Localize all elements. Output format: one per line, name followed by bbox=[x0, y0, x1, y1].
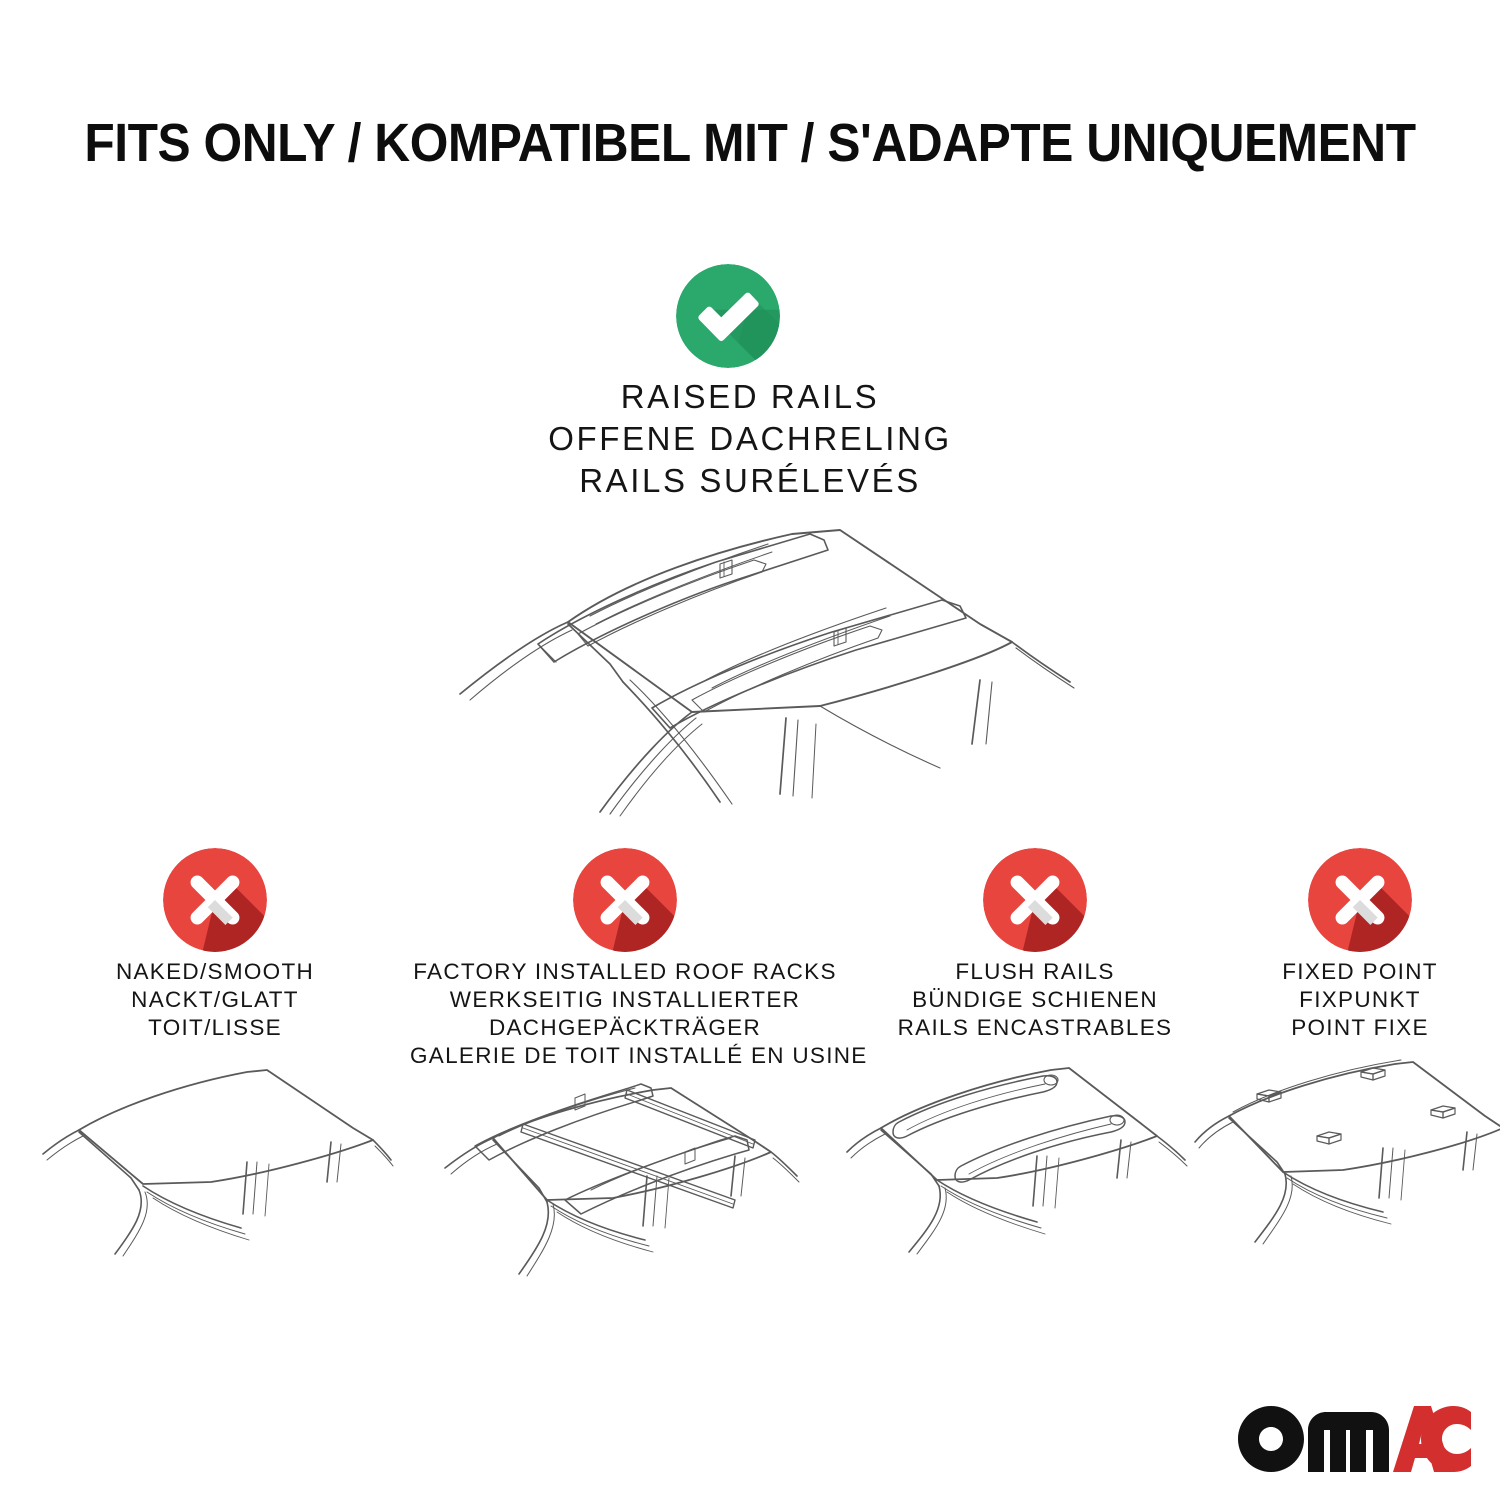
option-label-fr: GALERIE DE TOIT INSTALLÉ EN USINE bbox=[410, 1042, 840, 1070]
x-circle-icon bbox=[573, 848, 677, 952]
option-label-fr: TOIT/LISSE bbox=[55, 1014, 375, 1042]
option-label-en: FLUSH RAILS bbox=[865, 958, 1205, 986]
option-label-en: FIXED POINT bbox=[1215, 958, 1500, 986]
check-circle-icon bbox=[676, 264, 780, 368]
option-labels: NAKED/SMOOTH NACKT/GLATT TOIT/LISSE bbox=[55, 958, 375, 1042]
option-labels: FLUSH RAILS BÜNDIGE SCHIENEN RAILS ENCAS… bbox=[865, 958, 1205, 1042]
car-roof-fixed-point-illustration bbox=[1185, 1050, 1500, 1300]
car-roof-factory-roof-racks-illustration bbox=[435, 1078, 815, 1328]
option-label-de-1: WERKSEITIG INSTALLIERTER bbox=[410, 986, 840, 1014]
option-label-de-2: DACHGEPÄCKTRÄGER bbox=[410, 1014, 840, 1042]
option-label-de: BÜNDIGE SCHIENEN bbox=[865, 986, 1205, 1014]
x-circle-icon bbox=[163, 848, 267, 952]
option-label-fr: RAILS ENCASTRABLES bbox=[865, 1014, 1205, 1042]
car-roof-naked-smooth-illustration bbox=[35, 1050, 395, 1300]
approved-label-en: RAISED RAILS bbox=[250, 376, 1250, 418]
option-labels: FACTORY INSTALLED ROOF RACKS WERKSEITIG … bbox=[410, 958, 840, 1070]
option-label-en: NAKED/SMOOTH bbox=[55, 958, 375, 986]
approved-labels: RAISED RAILS OFFENE DACHRELING RAILS SUR… bbox=[250, 376, 1250, 502]
car-roof-with-raised-rails-illustration bbox=[420, 512, 1100, 832]
option-labels: FIXED POINT FIXPUNKT POINT FIXE bbox=[1215, 958, 1500, 1042]
x-circle-icon bbox=[983, 848, 1087, 952]
car-roof-flush-rails-illustration bbox=[845, 1050, 1225, 1300]
approved-label-fr: RAILS SURÉLEVÉS bbox=[250, 460, 1250, 502]
omac-logo bbox=[1238, 1406, 1472, 1472]
approved-label-de: OFFENE DACHRELING bbox=[250, 418, 1250, 460]
option-label-de: NACKT/GLATT bbox=[55, 986, 375, 1014]
x-circle-icon bbox=[1308, 848, 1412, 952]
option-label-en: FACTORY INSTALLED ROOF RACKS bbox=[410, 958, 840, 986]
fitment-infographic: FITS ONLY / KOMPATIBEL MIT / S'ADAPTE UN… bbox=[0, 0, 1500, 1500]
page-title: FITS ONLY / KOMPATIBEL MIT / S'ADAPTE UN… bbox=[60, 112, 1440, 174]
option-label-de: FIXPUNKT bbox=[1215, 986, 1500, 1014]
option-label-fr: POINT FIXE bbox=[1215, 1014, 1500, 1042]
